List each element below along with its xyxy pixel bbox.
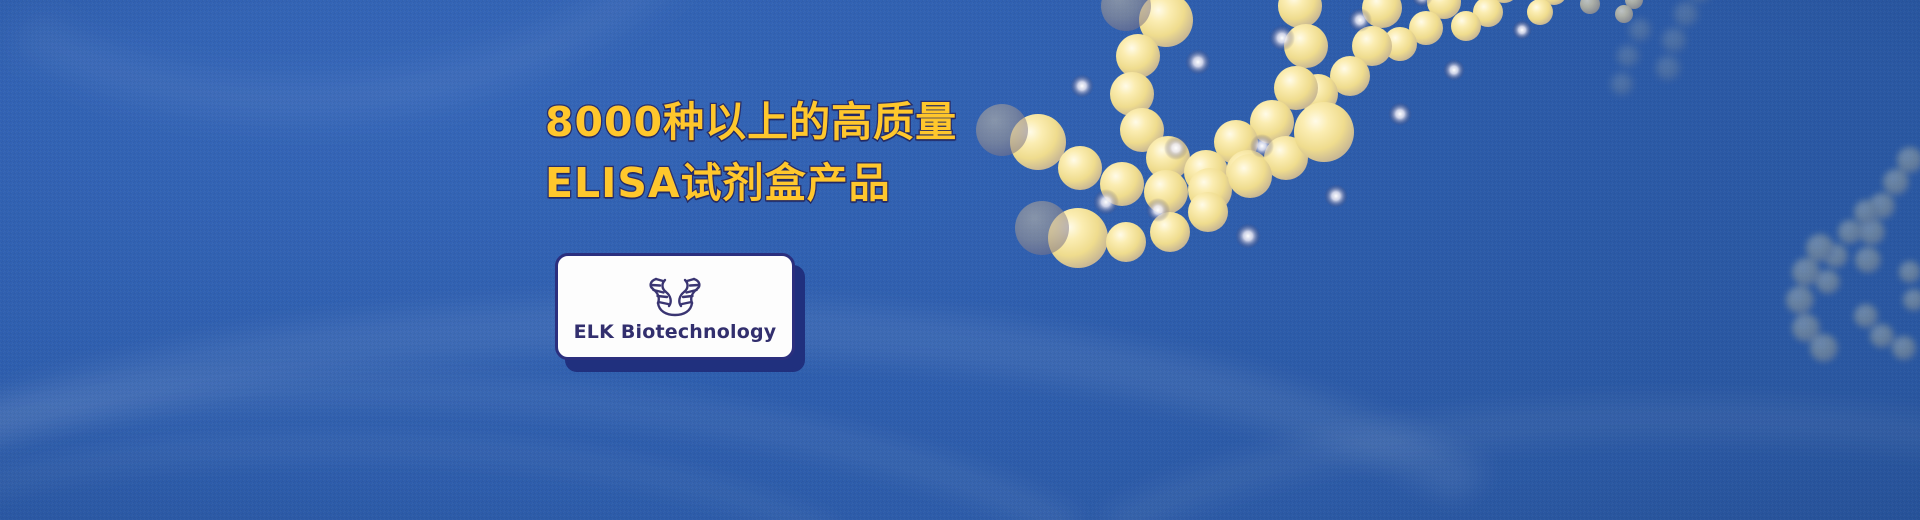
logo-wordmark: ELK Biotechnology [574,321,777,343]
promo-banner: 8000种以上的高质量 ELISA试剂盒产品 [0,0,1920,520]
dna-antler-icon [632,273,718,319]
banner-copy: 8000种以上的高质量 ELISA试剂盒产品 [545,95,957,212]
headline-line-2: ELISA试剂盒产品 [545,156,957,211]
dna-helix-artwork [930,0,1710,520]
brand-logo-card[interactable]: ELK Biotechnology [555,253,795,360]
logo-card-surface[interactable]: ELK Biotechnology [555,253,795,360]
headline-line-1: 8000种以上的高质量 [545,95,957,150]
